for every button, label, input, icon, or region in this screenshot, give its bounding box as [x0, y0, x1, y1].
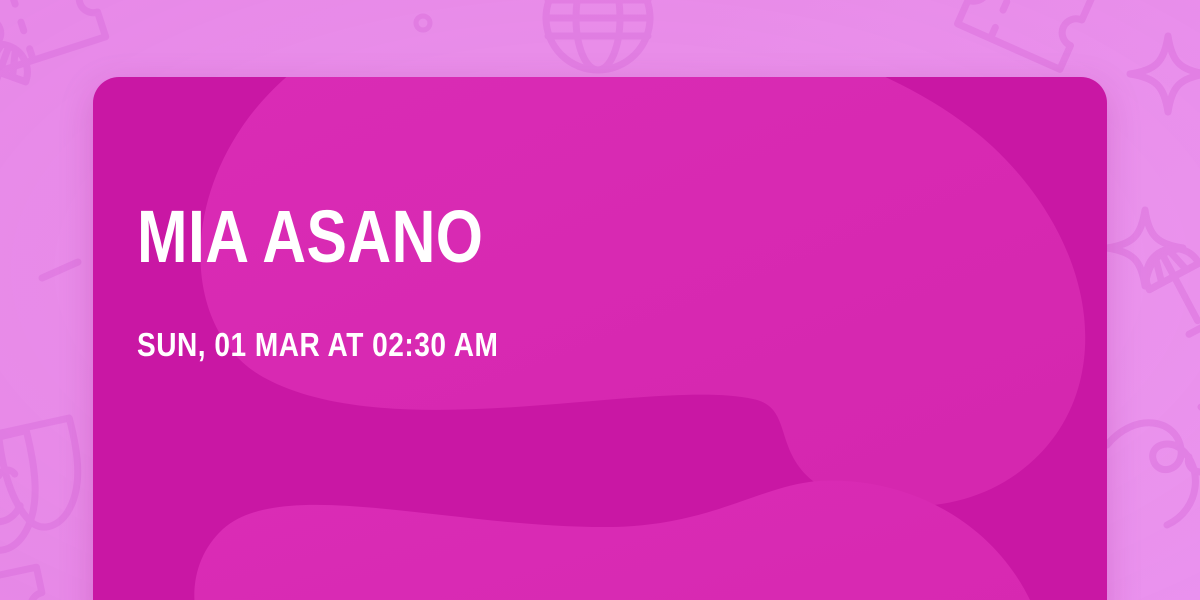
event-card-content: Mia Asano Sun, 01 Mar at 02:30 AM [137, 202, 1067, 361]
event-card[interactable]: Mia Asano Sun, 01 Mar at 02:30 AM [93, 77, 1107, 600]
event-datetime: Sun, 01 Mar at 02:30 AM [137, 272, 928, 361]
event-card-stage: Mia Asano Sun, 01 Mar at 02:30 AM [0, 0, 1200, 600]
event-title: Mia Asano [137, 202, 900, 272]
